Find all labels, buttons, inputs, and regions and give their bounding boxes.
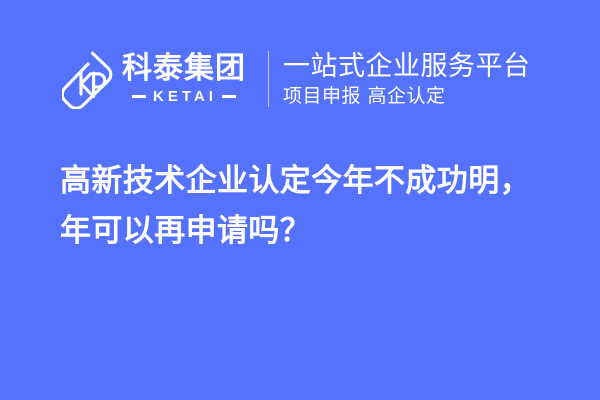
- tagline-group: 一站式企业服务平台 项目申报 高企认定: [283, 52, 531, 107]
- dash-left-icon: [132, 95, 146, 98]
- company-name-cn: 科泰集团: [122, 54, 246, 84]
- headline-line-1: 高新技术企业认定今年不成功明，: [60, 156, 552, 206]
- brand-header: 科泰集团 KETAI 一站式企业服务平台 项目申报 高企认定: [0, 40, 600, 118]
- dash-right-icon: [222, 95, 236, 98]
- brand-logo-group[interactable]: 科泰集团 KETAI: [62, 49, 246, 109]
- headline-line-2: 年可以再申请吗？: [60, 206, 552, 256]
- tagline-main: 一站式企业服务平台: [283, 52, 531, 81]
- brand-divider: [268, 51, 269, 107]
- promo-banner: 科泰集团 KETAI 一站式企业服务平台 项目申报 高企认定 高新技术企业认定今…: [0, 0, 600, 400]
- tagline-sub: 项目申报 高企认定: [283, 86, 531, 107]
- company-name-en: KETAI: [152, 89, 217, 104]
- ketai-kp-monogram-diamond-logo: [62, 49, 114, 109]
- headline: 高新技术企业认定今年不成功明， 年可以再申请吗？: [60, 156, 552, 256]
- company-name-en-row: KETAI: [122, 89, 246, 104]
- brand-wordmark: 科泰集团 KETAI: [122, 54, 246, 104]
